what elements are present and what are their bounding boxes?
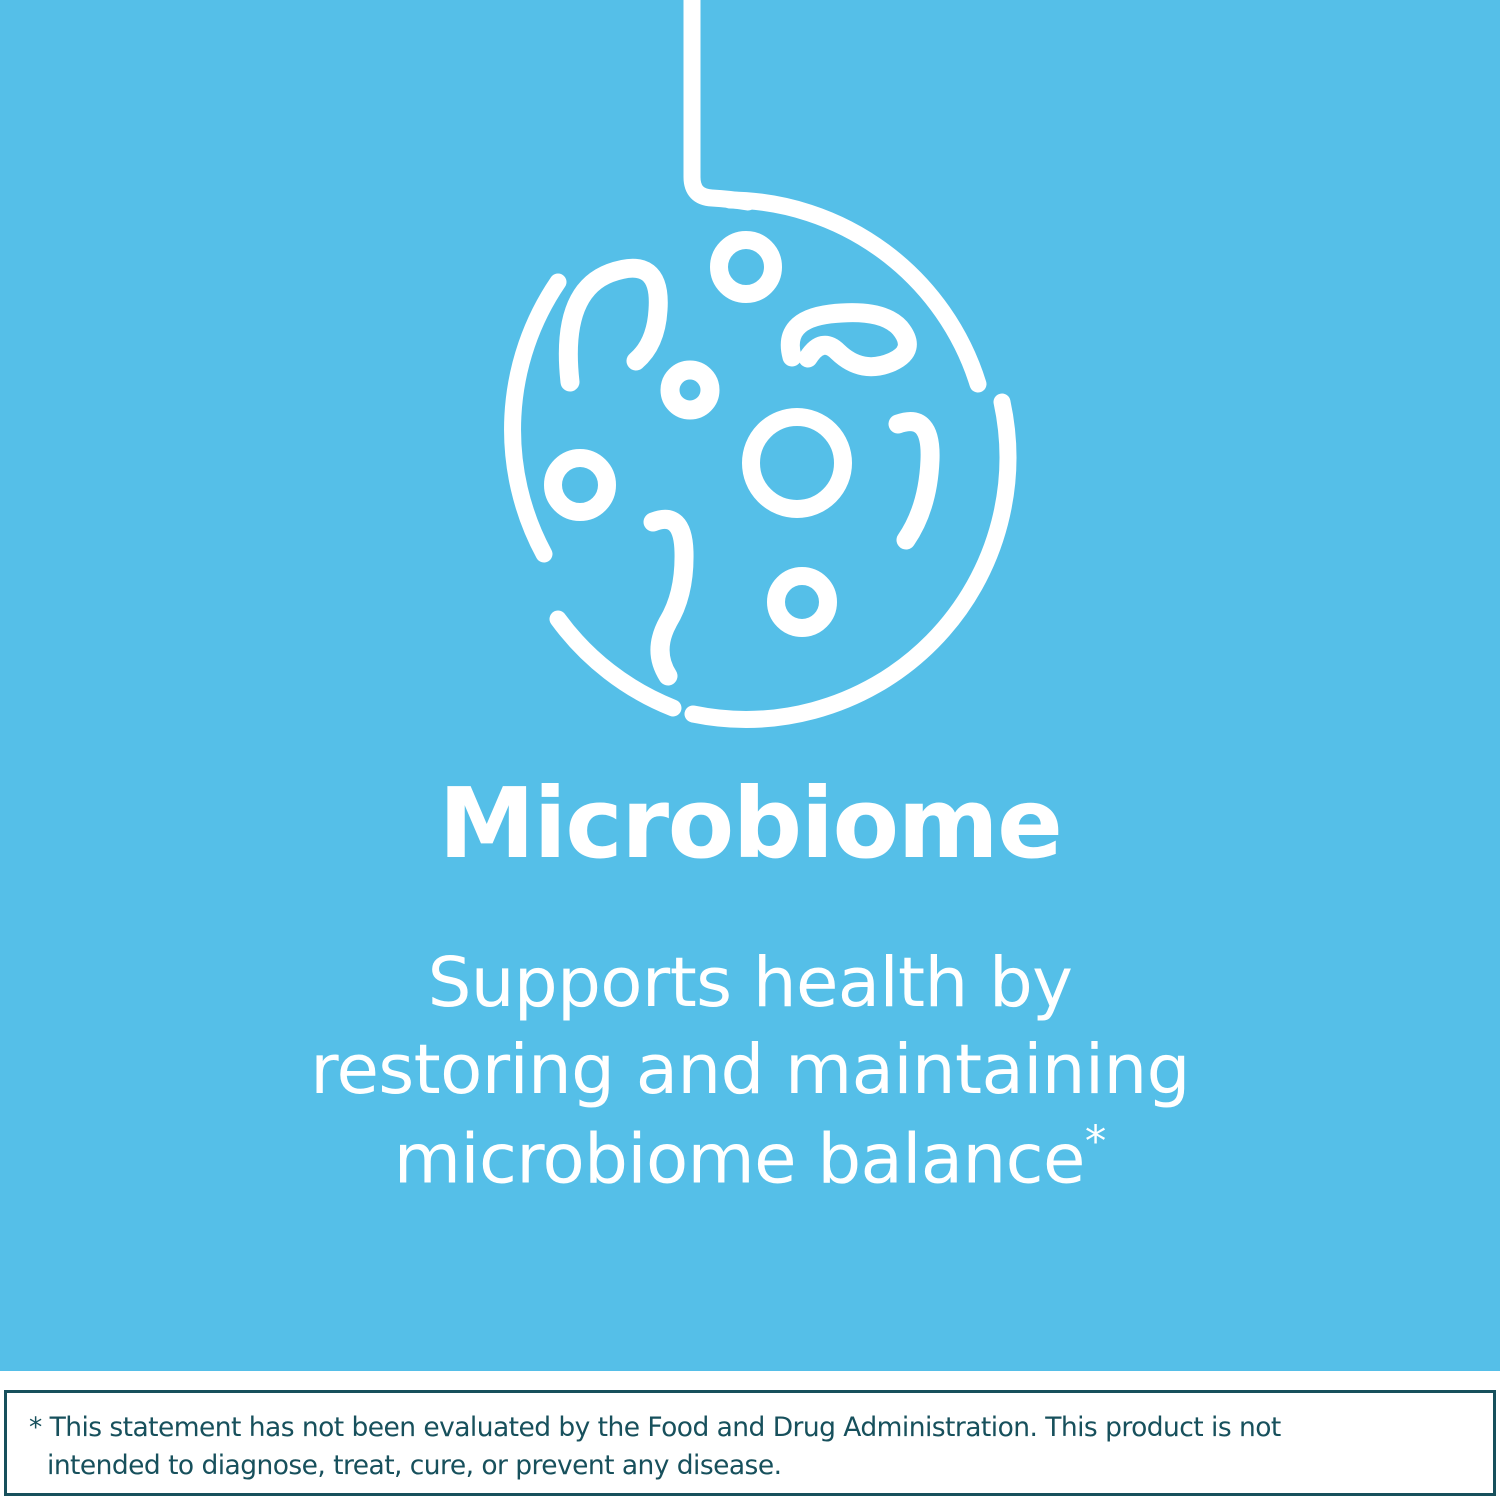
benefit-line-3-text: microbiome balance (394, 1120, 1085, 1200)
fda-disclaimer-line-1: * This statement has not been evaluated … (29, 1409, 1467, 1447)
microbiome-petri-dish-icon (430, 0, 1070, 732)
page-title: Microbiome (0, 772, 1500, 877)
bacteria-ring-upper (719, 240, 773, 294)
rim-arc-right-bottom (693, 402, 1008, 719)
benefit-line-3: microbiome balance* (0, 1115, 1500, 1204)
rim-arc-left (513, 282, 558, 554)
hero-panel: Microbiome Supports health by restoring … (0, 0, 1500, 1371)
fda-disclaimer-text: * This statement has not been evaluated … (29, 1409, 1467, 1484)
copy-block: Microbiome Supports health by restoring … (0, 772, 1500, 1204)
benefit-line-2: restoring and maintaining (0, 1027, 1500, 1115)
bacteria-bean-upper-right (790, 313, 907, 367)
bacteria-ring-mid-left (553, 458, 607, 512)
fda-disclaimer-line-2: intended to diagnose, treat, cure, or pr… (29, 1447, 1467, 1485)
bacteria-rod-crescent-right (898, 422, 930, 540)
bacteria-bean-bottom-center (653, 519, 684, 676)
bacteria-rod-hooked-upper-left (568, 268, 658, 382)
benefit-line-1: Supports health by (0, 940, 1500, 1028)
product-feature-card: Microbiome Supports health by restoring … (0, 0, 1500, 1500)
bacteria-ring-small-center (670, 370, 710, 410)
bacteria-ring-large (751, 417, 843, 509)
benefit-description: Supports health by restoring and maintai… (0, 940, 1500, 1204)
footnote-marker: * (1085, 1117, 1106, 1167)
bacteria-ring-lower-right (776, 576, 828, 628)
fda-disclaimer-box: * This statement has not been evaluated … (4, 1390, 1496, 1496)
stem-path (692, 0, 748, 202)
